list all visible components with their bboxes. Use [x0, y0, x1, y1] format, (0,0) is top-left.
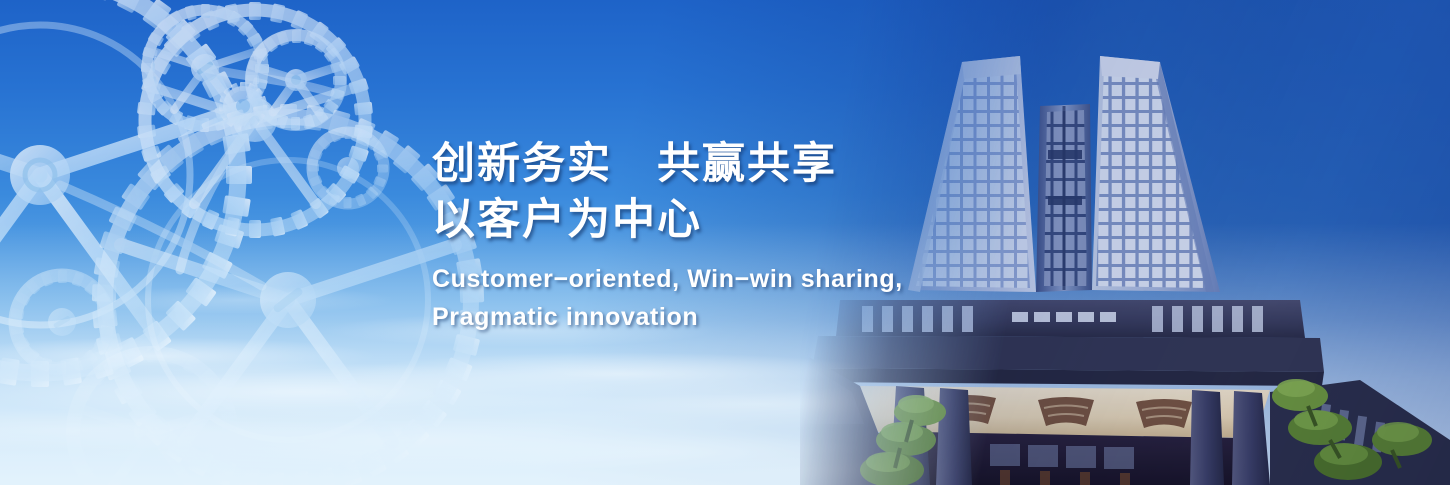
headline-line-1: 创新务实 共赢共享 — [432, 136, 903, 192]
subtitle-line-1: Customer−oriented, Win−win sharing, — [432, 260, 903, 298]
subtitle-line-2: Pragmatic innovation — [432, 298, 903, 336]
hero-copy: 创新务实 共赢共享 以客户为中心 Customer−oriented, Win−… — [432, 136, 903, 336]
company-hero-banner: 创新务实 共赢共享 以客户为中心 Customer−oriented, Win−… — [0, 0, 1450, 485]
headline-line-2: 以客户为中心 — [432, 192, 903, 248]
